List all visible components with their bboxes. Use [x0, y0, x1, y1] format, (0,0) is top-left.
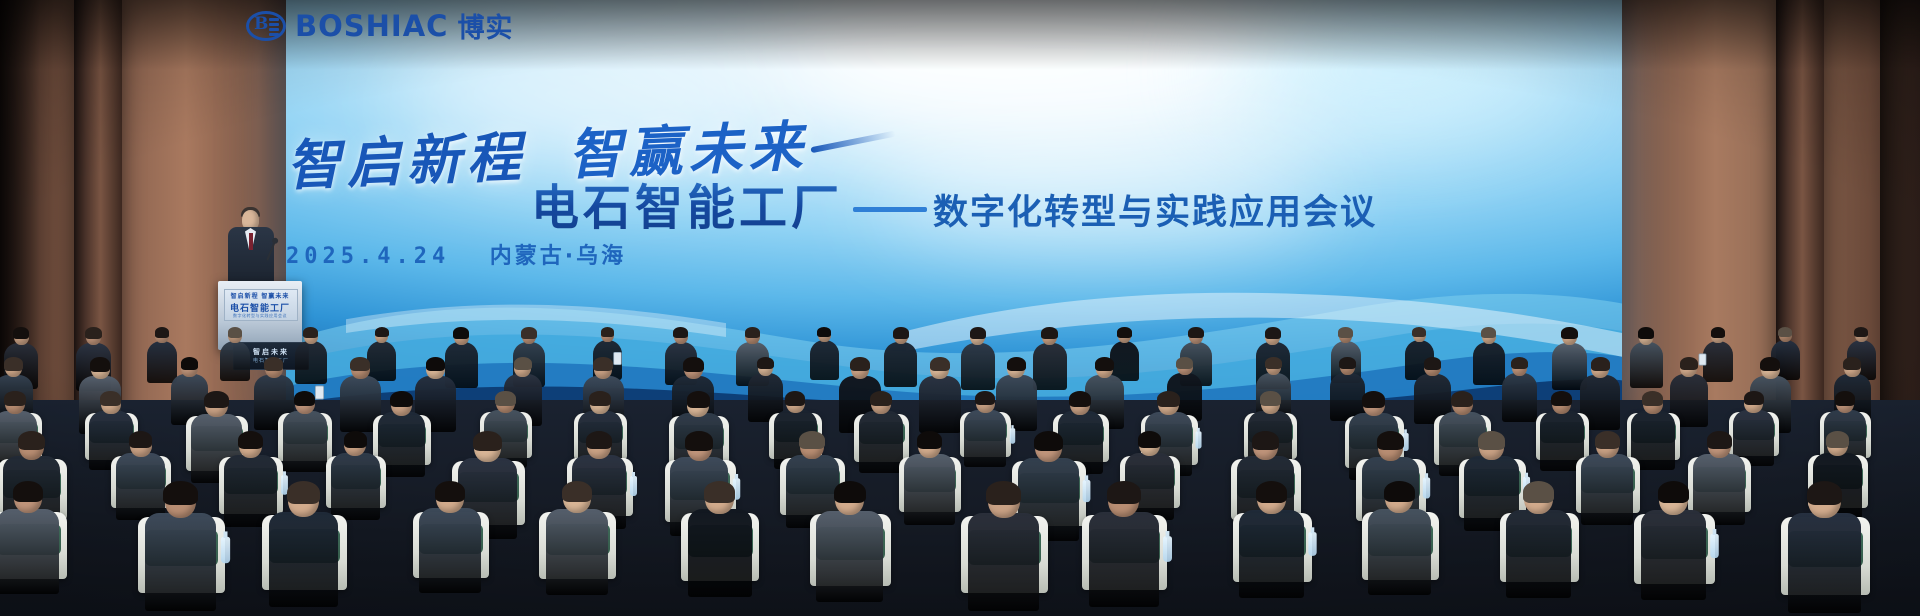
water-bottle — [1196, 432, 1202, 449]
water-bottle — [1423, 478, 1430, 499]
audience-body — [147, 341, 178, 383]
audience-hair — [834, 481, 866, 504]
audience-hair — [228, 327, 242, 337]
water-bottle — [220, 537, 229, 564]
audience-hair — [685, 431, 713, 451]
audience-hair — [1034, 431, 1063, 452]
audience-hair — [970, 327, 987, 339]
audience-hair — [453, 327, 469, 338]
water-bottle — [630, 476, 637, 496]
audience-hair — [1265, 357, 1282, 369]
attendee-phone — [315, 385, 324, 399]
calligraphy-brush-stroke — [810, 131, 896, 154]
audience-hair — [745, 327, 761, 338]
audience-body — [419, 508, 481, 592]
audience-hair — [1176, 357, 1193, 369]
audience-hair — [294, 391, 315, 406]
audience-hair — [1551, 391, 1572, 406]
screen-date: 2025.4.24 — [286, 244, 450, 269]
audience-hair — [390, 391, 413, 407]
audience-hair — [1561, 327, 1577, 339]
audience-hair — [930, 357, 950, 371]
audience-hair — [757, 357, 774, 369]
audience-hair — [1095, 357, 1114, 370]
water-bottle — [1308, 533, 1316, 557]
audience-hair — [1658, 481, 1690, 503]
audience-hair — [1807, 481, 1842, 506]
audience-hair — [1760, 357, 1780, 371]
audience-hair — [1826, 431, 1849, 448]
screen-title-row: 电石智能工厂 数字化转型与实践应用会议 — [286, 168, 1622, 238]
audience-hair — [687, 391, 711, 408]
audience-hair — [1157, 391, 1180, 407]
audience-hair — [850, 357, 870, 371]
audience-hair — [975, 391, 995, 405]
audience-hair — [1339, 357, 1356, 369]
audience-body — [269, 512, 338, 607]
audience-hair — [1412, 327, 1426, 337]
audience-hair — [1711, 327, 1725, 337]
audience-hair — [155, 327, 170, 337]
audience-body — [968, 513, 1039, 611]
audience-hair — [1843, 357, 1861, 370]
audience-hair — [1595, 431, 1620, 449]
audience-hair — [683, 357, 703, 371]
audience-hair — [1384, 481, 1414, 502]
audience-hair — [181, 357, 199, 370]
audience-hair — [426, 357, 446, 371]
audience-hair — [495, 391, 515, 405]
audience-hair — [303, 327, 318, 338]
podium-sign-line-1: 智启新程 智赢未来 — [218, 291, 302, 300]
audience-hair — [1007, 357, 1026, 371]
audience-body — [331, 453, 380, 520]
audience-hair — [1138, 431, 1162, 448]
audience-hair — [1835, 391, 1855, 405]
audience-hair — [85, 327, 102, 339]
audience-hair — [1424, 357, 1442, 369]
audience-body — [688, 509, 752, 597]
water-bottle — [1083, 480, 1091, 502]
audience-body — [810, 340, 839, 379]
audience-hair — [1265, 327, 1281, 338]
audience-body — [1703, 341, 1733, 382]
audience-hair — [1523, 481, 1554, 503]
audience-hair — [4, 391, 25, 406]
logo-wordmark-cn: 博实 — [457, 6, 513, 45]
audience-body — [964, 410, 1006, 467]
audience-hair — [704, 481, 735, 503]
audience-body — [1033, 343, 1067, 390]
audience-hair — [514, 357, 532, 370]
audience-body — [220, 341, 250, 382]
audience-hair — [1041, 327, 1057, 339]
audience-hair — [1591, 357, 1610, 371]
speaker-tie — [249, 233, 253, 250]
audience-hair — [1638, 327, 1654, 338]
audience-hair — [350, 357, 370, 371]
audience-body — [283, 411, 327, 472]
audience-hair — [1511, 357, 1528, 369]
audience-hair — [264, 357, 283, 371]
audience-body — [367, 341, 396, 381]
attendee-phone — [614, 352, 622, 365]
screen-location: 内蒙古·乌海 — [490, 244, 626, 269]
audience-body — [295, 341, 326, 384]
audience-hair — [586, 431, 612, 449]
screen-title-main: 电石智能工厂 — [531, 168, 843, 238]
audience-hair — [13, 327, 29, 339]
audience-hair — [1478, 431, 1505, 450]
audience-body — [1641, 510, 1707, 600]
boshiac-oval-logo-icon: B — [246, 11, 286, 41]
audience-body — [1239, 510, 1303, 598]
audience-body — [859, 411, 904, 472]
podium-sign-line-3: 数字化转型与实践应用会议 — [218, 313, 302, 319]
audience-hair — [1642, 391, 1663, 406]
audience-hair — [1338, 327, 1353, 337]
audience-hair — [204, 391, 228, 408]
audience-body — [1473, 342, 1505, 385]
audience-body — [1630, 342, 1663, 387]
audience-hair — [1256, 481, 1287, 503]
audience-hair — [1260, 391, 1281, 406]
audience-hair — [601, 327, 615, 337]
audience-hair — [893, 327, 909, 338]
audience-hair — [673, 327, 688, 338]
audience-body — [1506, 510, 1570, 598]
audience-hair — [589, 391, 610, 406]
audience-hair — [785, 391, 806, 406]
conference-photo: 智启新程智赢未来 电石智能工厂 数字化转型与实践应用会议 2025.4.24 内… — [0, 0, 1920, 616]
audience-hair — [1188, 327, 1203, 338]
audience-body — [1502, 373, 1538, 422]
audience-body — [1368, 509, 1431, 595]
audience-hair — [4, 357, 23, 370]
audience-hair — [917, 431, 942, 449]
attendee-phone — [1699, 353, 1707, 365]
audience-hair — [1069, 391, 1091, 406]
audience-body — [816, 511, 883, 602]
audience-body — [1581, 454, 1633, 525]
audience-hair — [1117, 327, 1131, 337]
audience-body — [116, 453, 165, 520]
audience-body — [546, 509, 609, 595]
audience-hair — [238, 431, 263, 449]
audience-body — [1788, 513, 1861, 613]
audience-hair — [521, 327, 537, 338]
water-bottle — [1710, 533, 1719, 557]
audience-hair — [1451, 391, 1474, 407]
audience-hair — [375, 327, 389, 337]
audience-hair — [473, 431, 502, 451]
audience-hair — [1362, 391, 1386, 408]
audience-hair — [1854, 327, 1868, 337]
audience-hair — [986, 481, 1020, 505]
audience-hair — [287, 481, 320, 505]
screen-title-sub: 数字化转型与实践应用会议 — [933, 184, 1377, 235]
audience-body — [884, 342, 917, 387]
logo-wordmark: BOSHIAC — [295, 9, 448, 43]
boshiac-logo: B BOSHIAC 博实 — [246, 6, 513, 45]
audience-body — [919, 376, 961, 433]
audience-hair — [1252, 431, 1279, 450]
audience-hair — [817, 327, 831, 337]
audience-hair — [1778, 327, 1792, 337]
title-dash — [853, 207, 927, 212]
audience-hair — [163, 481, 198, 505]
audience-hair — [799, 431, 825, 449]
audience-hair — [870, 391, 892, 406]
water-bottle — [1163, 536, 1172, 562]
audience-hair — [1744, 391, 1764, 405]
audience-hair — [100, 391, 121, 406]
audience-hair — [13, 481, 43, 502]
audience-hair — [344, 431, 368, 448]
audience-hair — [1481, 327, 1496, 338]
audience-hair — [90, 357, 110, 371]
audience-body — [145, 513, 217, 611]
audience-hair — [129, 431, 153, 448]
audience-hair — [1107, 481, 1140, 505]
audience-hair — [562, 481, 592, 502]
audience-body — [904, 454, 955, 525]
screen-meta-line: 2025.4.24 内蒙古·乌海 — [286, 238, 1622, 270]
audience-hair — [1377, 431, 1404, 450]
audience-hair — [435, 481, 465, 502]
audience-hair — [593, 357, 613, 371]
audience-body — [961, 343, 995, 390]
audience-body — [0, 509, 59, 594]
audience-hair — [1707, 431, 1732, 449]
audience-body — [1089, 512, 1158, 607]
audience-hair — [1680, 357, 1698, 370]
water-bottle — [1010, 428, 1015, 443]
audience-hair — [18, 431, 45, 450]
